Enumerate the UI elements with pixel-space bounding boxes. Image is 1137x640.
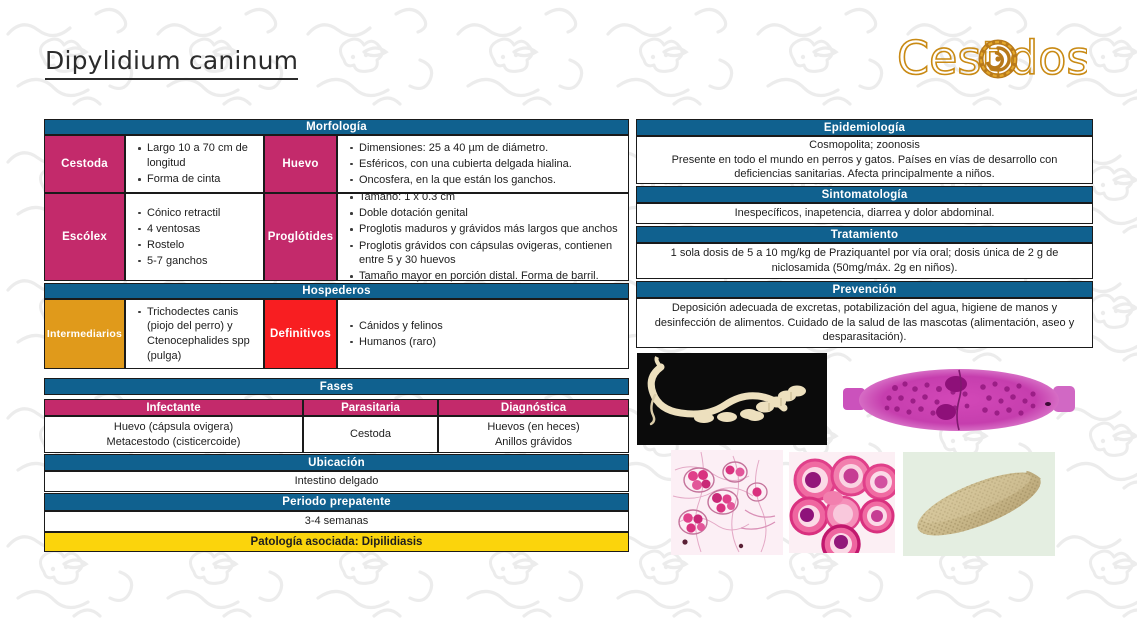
morfologia-label-cestoda: Cestoda bbox=[44, 135, 125, 193]
adult-tapeworm-photo bbox=[637, 353, 827, 445]
stained-gravid-proglottid-photo bbox=[843, 358, 1075, 442]
list-item: Tamaño: 1 x 0.3 cm bbox=[350, 190, 622, 205]
sintomatologia-header: Sintomatología bbox=[636, 186, 1093, 203]
cestoda-list: Largo 10 a 70 cm de longitud Forma de ci… bbox=[126, 140, 263, 188]
hospederos-label-definitivos: Definitivos bbox=[264, 299, 337, 369]
morfologia-cell-huevo: Dimensiones: 25 a 40 µm de diámetro. Esf… bbox=[337, 135, 629, 193]
fases-value-infectante: Huevo (cápsula ovigera) Metacestodo (cis… bbox=[44, 416, 303, 453]
logo-graphic: Cest dos bbox=[897, 28, 1087, 90]
fases-column-infectante: Infectante bbox=[44, 399, 303, 416]
list-item: Esféricos, con una cubierta delgada hial… bbox=[350, 157, 572, 172]
list-item: Humanos (raro) bbox=[350, 335, 443, 350]
proglottid-rice-grain-photo bbox=[903, 452, 1055, 556]
prevencion-value: Deposición adecuada de excretas, potabil… bbox=[636, 298, 1093, 348]
list-item: Cánidos y felinos bbox=[350, 319, 443, 334]
svg-text:dos: dos bbox=[1009, 31, 1087, 85]
ubicacion-value: Intestino delgado bbox=[44, 471, 629, 492]
list-item: 5-7 ganchos bbox=[138, 254, 220, 269]
epidemiologia-line1: Cosmopolita; zoonosis bbox=[809, 138, 920, 153]
proglotides-list: Tamaño: 1 x 0.3 cm Doble dotación genita… bbox=[338, 189, 628, 286]
list-item: Doble dotación genital bbox=[350, 206, 622, 221]
fases-column-diagnostica: Diagnóstica bbox=[438, 399, 629, 416]
periodo-value: 3-4 semanas bbox=[44, 511, 629, 532]
list-item: 4 ventosas bbox=[138, 222, 220, 237]
page-title: Dipylidium caninum bbox=[45, 46, 298, 80]
morfologia-label-escolex: Escólex bbox=[44, 193, 125, 281]
hospederos-label-intermediarios: Intermediarios bbox=[44, 299, 125, 369]
morfologia-header: Morfología bbox=[44, 119, 629, 135]
list-item: Trichodectes canis (piojo del perro) y C… bbox=[138, 305, 257, 364]
epidemiologia-line2: Presente en todo el mundo en perros y ga… bbox=[645, 153, 1084, 183]
hospederos-cell-intermediarios: Trichodectes canis (piojo del perro) y C… bbox=[125, 299, 264, 369]
tratamiento-value: 1 sola dosis de 5 a 10 mg/kg de Praziqua… bbox=[636, 243, 1093, 279]
list-item: Tamaño mayor en porción distal. Forma de… bbox=[350, 269, 622, 284]
periodo-header: Periodo prepatente bbox=[44, 493, 629, 511]
list-item: Largo 10 a 70 cm de longitud bbox=[138, 141, 257, 170]
epidemiologia-header: Epidemiología bbox=[636, 119, 1093, 136]
hospederos-header: Hospederos bbox=[44, 283, 629, 299]
list-item: Oncosfera, en la que están los ganchos. bbox=[350, 173, 572, 188]
tratamiento-header: Tratamiento bbox=[636, 226, 1093, 243]
morfologia-cell-proglotides: Tamaño: 1 x 0.3 cm Doble dotación genita… bbox=[337, 193, 629, 281]
huevo-list: Dimensiones: 25 a 40 µm de diámetro. Esf… bbox=[338, 139, 578, 189]
patologia-bar: Patología asociada: Dipilidiasis bbox=[44, 532, 629, 552]
eggs-microscopy-photo bbox=[789, 452, 895, 553]
list-item: Forma de cinta bbox=[138, 172, 257, 187]
hospederos-cell-definitivos: Cánidos y felinos Humanos (raro) bbox=[337, 299, 629, 369]
ubicacion-header: Ubicación bbox=[44, 454, 629, 471]
svg-text:Cest: Cest bbox=[897, 31, 999, 85]
prevencion-header: Prevención bbox=[636, 281, 1093, 298]
morfologia-label-huevo: Huevo bbox=[264, 135, 337, 193]
fases-header: Fases bbox=[44, 378, 629, 395]
fases-column-parasitaria: Parasitaria bbox=[303, 399, 438, 416]
intermediarios-list: Trichodectes canis (piojo del perro) y C… bbox=[126, 303, 263, 365]
fases-value-parasitaria: Cestoda bbox=[303, 416, 438, 453]
fases-value-diagnostica: Huevos (en heces) Anillos grávidos bbox=[438, 416, 629, 453]
morfologia-label-proglotides: Proglótides bbox=[264, 193, 337, 281]
list-item: Proglotis maduros y grávidos más largos … bbox=[350, 222, 622, 237]
list-item: Dimensiones: 25 a 40 µm de diámetro. bbox=[350, 141, 572, 156]
definitivos-list: Cánidos y felinos Humanos (raro) bbox=[338, 317, 449, 351]
sintomatologia-value: Inespecíficos, inapetencia, diarrea y do… bbox=[636, 203, 1093, 224]
cestodos-logo: Cest dos Cestodos bbox=[897, 28, 1087, 90]
epidemiologia-body: Cosmopolita; zoonosis Presente en todo e… bbox=[636, 136, 1093, 184]
egg-capsules-histology-photo bbox=[671, 450, 783, 555]
morfologia-cell-cestoda: Largo 10 a 70 cm de longitud Forma de ci… bbox=[125, 135, 264, 193]
list-item: Cónico retractil bbox=[138, 206, 220, 221]
list-item: Rostelo bbox=[138, 238, 220, 253]
morfologia-cell-escolex: Cónico retractil 4 ventosas Rostelo 5-7 … bbox=[125, 193, 264, 281]
escolex-list: Cónico retractil 4 ventosas Rostelo 5-7 … bbox=[126, 204, 226, 270]
list-item: Proglotis grávidos con cápsulas ovigeras… bbox=[350, 239, 622, 268]
